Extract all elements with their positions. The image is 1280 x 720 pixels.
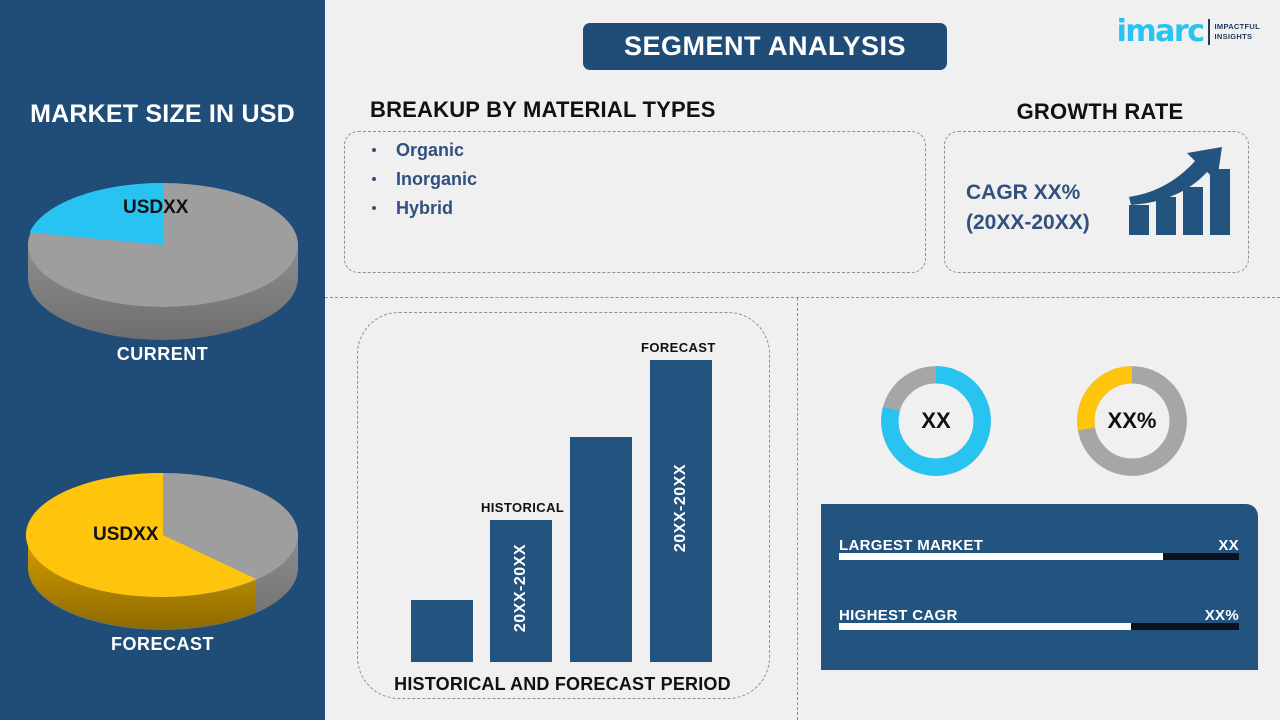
list-item: Organic xyxy=(372,140,477,161)
logo-tagline-line1: IMPACTFUL xyxy=(1215,22,1260,32)
cagr-line1: CAGR XX% xyxy=(966,178,1090,208)
pie-forecast-slice-label: USDXX xyxy=(93,524,159,545)
horizontal-divider xyxy=(325,297,1280,298)
pie-current-svg: USDXX xyxy=(18,150,308,340)
page-title: SEGMENT ANALYSIS xyxy=(583,23,947,70)
bar-chart-caption: HISTORICAL AND FORECAST PERIOD xyxy=(357,674,768,695)
donut-chart-2: XX% xyxy=(1071,360,1193,482)
breakup-item-label: Inorganic xyxy=(396,169,477,190)
donut-2-label: XX% xyxy=(1071,408,1193,434)
bar-annotation-forecast: FORECAST xyxy=(641,340,716,355)
stat-row-highest-cagr: HIGHEST CAGR XX% xyxy=(839,602,1239,630)
pie-current-slice-label: USDXX xyxy=(123,197,189,218)
stat-progress-track xyxy=(839,553,1239,560)
bar-4: 20XX-20XX xyxy=(650,360,712,662)
logo-wordmark: imarc xyxy=(1117,17,1204,47)
stat-value: XX xyxy=(1218,537,1239,554)
bar-4-label: 20XX-20XX xyxy=(672,464,690,552)
vertical-divider xyxy=(797,298,798,720)
bar-annotation-historical: HISTORICAL xyxy=(481,500,564,515)
bar-3 xyxy=(570,437,632,662)
bar-2-label: 20XX-20XX xyxy=(512,544,530,632)
stat-progress-fill xyxy=(839,553,1163,560)
market-stats-card: LARGEST MARKET XX HIGHEST CAGR XX% xyxy=(821,504,1258,670)
breakup-heading: BREAKUP BY MATERIAL TYPES xyxy=(370,97,716,123)
pie-current-caption: CURRENT xyxy=(0,344,325,365)
donut-chart-1: XX xyxy=(875,360,997,482)
pie-chart-forecast: USDXX FORECAST xyxy=(0,440,325,655)
stat-value: XX% xyxy=(1205,607,1239,624)
bullet-icon xyxy=(372,206,376,210)
list-item: Inorganic xyxy=(372,169,477,190)
bullet-icon xyxy=(372,148,376,152)
bar-chart: HISTORICAL FORECAST 20XX-20XX 20XX-20XX xyxy=(357,312,768,697)
market-size-sidebar: MARKET SIZE IN USD USDXX CURRENT xyxy=(0,0,325,720)
breakup-item-label: Organic xyxy=(396,140,464,161)
imarc-logo: imarc IMPACTFUL INSIGHTS xyxy=(1117,12,1260,52)
pie-forecast-svg: USDXX xyxy=(18,440,308,630)
pie-forecast-caption: FORECAST xyxy=(0,634,325,655)
stat-progress-track xyxy=(839,623,1239,630)
stat-row-largest-market: LARGEST MARKET XX xyxy=(839,532,1239,560)
growth-heading: GROWTH RATE xyxy=(940,99,1260,125)
bar-2: 20XX-20XX xyxy=(490,520,552,662)
logo-tagline: IMPACTFUL INSIGHTS xyxy=(1215,22,1260,42)
logo-tagline-line2: INSIGHTS xyxy=(1215,32,1260,42)
growth-arrow-chart-icon xyxy=(1125,143,1230,239)
donut-1-label: XX xyxy=(875,408,997,434)
cagr-line2: (20XX-20XX) xyxy=(966,208,1090,238)
stat-label: HIGHEST CAGR xyxy=(839,607,958,624)
sidebar-title: MARKET SIZE IN USD xyxy=(0,100,325,129)
stat-label: LARGEST MARKET xyxy=(839,537,983,554)
cagr-text: CAGR XX% (20XX-20XX) xyxy=(966,178,1090,239)
breakup-list: Organic Inorganic Hybrid xyxy=(372,140,477,227)
list-item: Hybrid xyxy=(372,198,477,219)
bullet-icon xyxy=(372,177,376,181)
stat-progress-fill xyxy=(839,623,1131,630)
logo-divider xyxy=(1208,19,1210,45)
pie-chart-current: USDXX CURRENT xyxy=(0,150,325,365)
breakup-item-label: Hybrid xyxy=(396,198,453,219)
infographic-canvas: MARKET SIZE IN USD USDXX CURRENT xyxy=(0,0,1280,720)
bar-1 xyxy=(411,600,473,662)
